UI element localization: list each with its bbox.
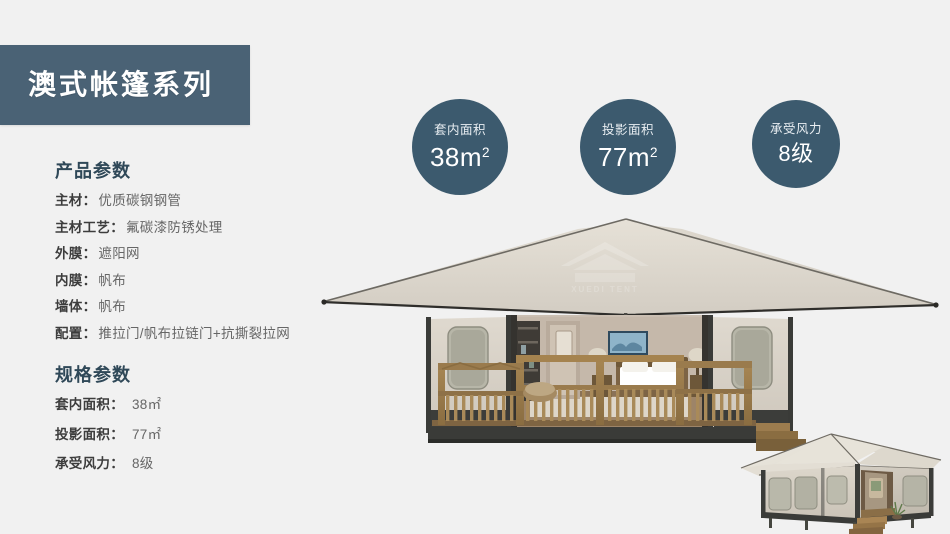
param-value: 氟碳漆防锈处理 (126, 221, 223, 235)
badge-label: 套内面积 (434, 124, 486, 137)
badge-unit-exponent: 2 (482, 146, 490, 160)
spec-key: 承受风力： (55, 457, 124, 471)
product-params-heading: 产品参数 (55, 162, 385, 180)
param-key: 内膜： (55, 274, 96, 288)
spec-value: 8级 (132, 457, 154, 471)
title-banner: 澳式帐篷系列 (0, 45, 250, 125)
badge-label: 投影面积 (602, 124, 654, 137)
tent-perspective-view-svg (735, 418, 950, 534)
spec-value: 77㎡ (132, 428, 161, 442)
param-key: 外膜： (55, 247, 96, 261)
tent-front-view-svg (320, 195, 940, 455)
secondary-tent-illustration (735, 418, 950, 534)
badge-unit-exponent: 2 (650, 146, 658, 160)
badge-unit: m (460, 144, 482, 170)
badge-label: 承受风力 (770, 123, 822, 136)
spec-key: 套内面积： (55, 398, 124, 412)
badge-number: 8级 (778, 143, 813, 165)
badge-value: 77m2 (598, 144, 658, 170)
param-value: 推拉门/帆布拉链门+抗撕裂拉网 (98, 327, 290, 341)
badge-number: 77 (598, 144, 628, 170)
stat-badge-interior-area: 套内面积 38m2 (412, 99, 508, 195)
param-key: 配置： (55, 327, 96, 341)
param-value: 帆布 (98, 300, 126, 314)
main-tent-illustration (320, 195, 940, 455)
badge-value: 8级 (778, 143, 813, 165)
spec-key: 投影面积： (55, 428, 124, 442)
param-key: 主材工艺： (55, 221, 124, 235)
param-value: 帆布 (98, 274, 126, 288)
page-title: 澳式帐篷系列 (28, 71, 214, 99)
badge-number: 38 (430, 144, 460, 170)
badge-unit: m (628, 144, 650, 170)
slide-canvas: 澳式帐篷系列 产品参数 主材： 优质碳钢钢管 主材工艺： 氟碳漆防锈处理 外膜：… (0, 0, 950, 534)
param-key: 墙体： (55, 300, 96, 314)
param-value: 优质碳钢钢管 (98, 194, 181, 208)
spec-value: 38㎡ (132, 398, 161, 412)
list-item: 承受风力： 8级 (55, 457, 385, 471)
badge-value: 38m2 (430, 144, 490, 170)
stat-badge-wind-resistance: 承受风力 8级 (752, 100, 840, 188)
param-key: 主材： (55, 194, 96, 208)
stat-badge-projected-area: 投影面积 77m2 (580, 99, 676, 195)
param-value: 遮阳网 (98, 247, 139, 261)
